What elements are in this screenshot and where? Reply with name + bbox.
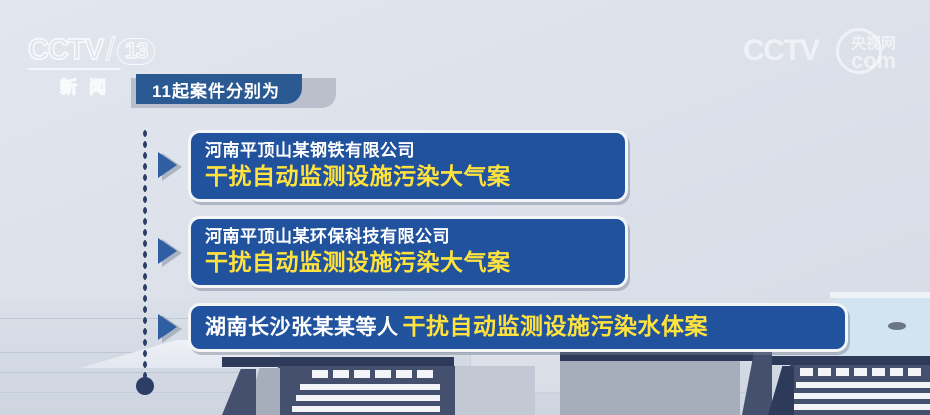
building-stripe xyxy=(788,404,930,410)
building-window xyxy=(417,370,433,378)
triangle-arrow-icon xyxy=(158,313,184,343)
building-window xyxy=(818,368,831,376)
building-stripe xyxy=(300,384,440,390)
building-block-gray xyxy=(455,366,535,415)
building-window xyxy=(312,370,328,378)
case-card[interactable]: 河南平顶山某钢铁有限公司 干扰自动监测设施污染大气案 xyxy=(188,130,628,202)
case-item[interactable]: 湖南长沙张某某等人 干扰自动监测设施污染水体案 xyxy=(158,303,848,352)
building-stripe xyxy=(796,382,930,388)
building-window xyxy=(872,368,885,376)
building-window xyxy=(854,368,867,376)
watermark-com-text: com xyxy=(851,50,896,72)
case-charge: 干扰自动监测设施污染水体案 xyxy=(403,312,709,340)
antenna-dot xyxy=(888,322,906,330)
case-card[interactable]: 湖南长沙张某某等人 干扰自动监测设施污染水体案 xyxy=(188,303,848,352)
building-window xyxy=(354,370,370,378)
floor-line xyxy=(0,372,240,373)
building-window xyxy=(375,370,391,378)
triangle-arrow-icon xyxy=(158,237,184,267)
logo-channel-number: 13 xyxy=(117,38,155,65)
sky-panel xyxy=(838,296,930,356)
case-inline-row: 湖南长沙张某某等人 干扰自动监测设施污染水体案 xyxy=(205,312,831,341)
building-roof-bar xyxy=(772,356,930,365)
case-item[interactable]: 河南平顶山某钢铁有限公司 干扰自动监测设施污染大气案 xyxy=(158,130,628,202)
building-window xyxy=(890,368,903,376)
logo-cctv-text: CCTV xyxy=(28,36,103,65)
building-window xyxy=(800,368,813,376)
building-window xyxy=(836,368,849,376)
header-ribbon: 11起案件分别为 xyxy=(136,74,302,104)
case-subject: 湖南长沙张某某等人 xyxy=(205,315,399,341)
case-card[interactable]: 河南平顶山某环保科技有限公司 干扰自动监测设施污染大气案 xyxy=(188,216,628,288)
case-charge: 干扰自动监测设施污染大气案 xyxy=(205,162,611,190)
timeline-end-dot xyxy=(136,377,154,395)
building-stripe xyxy=(296,395,440,401)
header-ribbon-label: 11起案件分别为 xyxy=(152,77,280,102)
case-subject: 河南平顶山某钢铁有限公司 xyxy=(205,140,611,161)
building-stripe xyxy=(292,406,440,412)
logo-row-primary: CCTV / 13 xyxy=(28,33,178,65)
building-block-gray xyxy=(560,361,740,415)
case-charge: 干扰自动监测设施污染大气案 xyxy=(205,248,611,276)
case-item[interactable]: 河南平顶山某环保科技有限公司 干扰自动监测设施污染大气案 xyxy=(158,216,628,288)
cctv-com-watermark: CCTV 央视网 com xyxy=(743,26,918,74)
broadcast-screen: CCTV / 13 新闻 CCTV 央视网 com 11起案件分别为 河南平顶山… xyxy=(0,0,930,415)
sky-panel-edge xyxy=(830,292,930,298)
building-roof-bar xyxy=(560,352,760,361)
logo-slash: / xyxy=(106,33,114,65)
triangle-arrow-icon xyxy=(158,151,184,181)
case-subject: 河南平顶山某环保科技有限公司 xyxy=(205,226,611,247)
building-stripe xyxy=(792,393,930,399)
watermark-cctv-text: CCTV xyxy=(743,36,819,66)
building-window xyxy=(333,370,349,378)
building-window xyxy=(908,368,921,376)
building-window xyxy=(396,370,412,378)
timeline-dotted-line xyxy=(142,128,148,378)
logo-underline xyxy=(28,68,120,70)
